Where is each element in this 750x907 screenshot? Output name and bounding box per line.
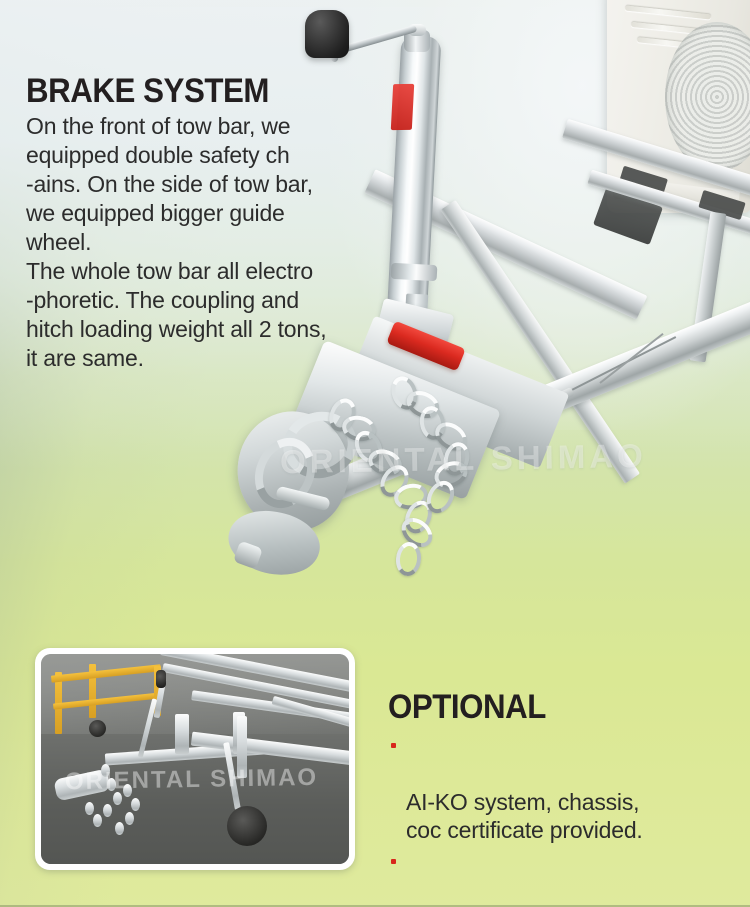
inset-photo: ORIENTAL SHIMAO xyxy=(41,654,349,864)
inset-chain-link xyxy=(107,778,116,791)
red-warning-sticker xyxy=(391,84,414,130)
optional-heading: OPTIONAL xyxy=(388,690,701,724)
jack-post-collar xyxy=(391,263,438,281)
inset-chain-link xyxy=(103,804,112,817)
chassis-cross-member xyxy=(175,714,189,754)
ac-louver xyxy=(625,6,711,20)
jockey-post xyxy=(237,716,247,778)
brake-system-text-block: BRAKE SYSTEM On the front of tow bar, we… xyxy=(26,74,356,373)
inset-chain-link xyxy=(101,764,110,777)
inset-chain-link xyxy=(85,802,94,815)
inset-chain-link xyxy=(93,814,102,827)
crank-handle-knob xyxy=(305,10,349,58)
jack-handle-grip xyxy=(156,670,166,688)
inset-photo-frame: ORIENTAL SHIMAO xyxy=(35,648,355,870)
list-item-label: AI-KO system, chassis, coc certificate p… xyxy=(406,789,643,843)
inset-chain-link xyxy=(113,792,122,805)
optional-text-block: OPTIONAL AI-KO system, chassis, coc cert… xyxy=(388,690,728,907)
bullet-dot-icon xyxy=(391,743,396,748)
inset-chain-link xyxy=(115,822,124,835)
optional-list: AI-KO system, chassis, coc certificate p… xyxy=(388,732,728,907)
brake-system-body: On the front of tow bar, we equipped dou… xyxy=(26,112,356,373)
inset-chain-link xyxy=(123,784,132,797)
list-item: Mechanical brake xyxy=(388,848,728,907)
rack-caster-wheel xyxy=(89,720,106,737)
product-feature-banner: ORIENTAL SHIMAO BRAKE SYSTEM On the fron… xyxy=(0,0,750,907)
jockey-guide-wheel xyxy=(227,806,267,846)
inset-chain-link xyxy=(131,798,140,811)
bullet-dot-icon xyxy=(391,859,396,864)
brake-system-heading: BRAKE SYSTEM xyxy=(26,74,330,108)
list-item: AI-KO system, chassis, coc certificate p… xyxy=(388,732,728,844)
inset-chain-link xyxy=(125,812,134,825)
